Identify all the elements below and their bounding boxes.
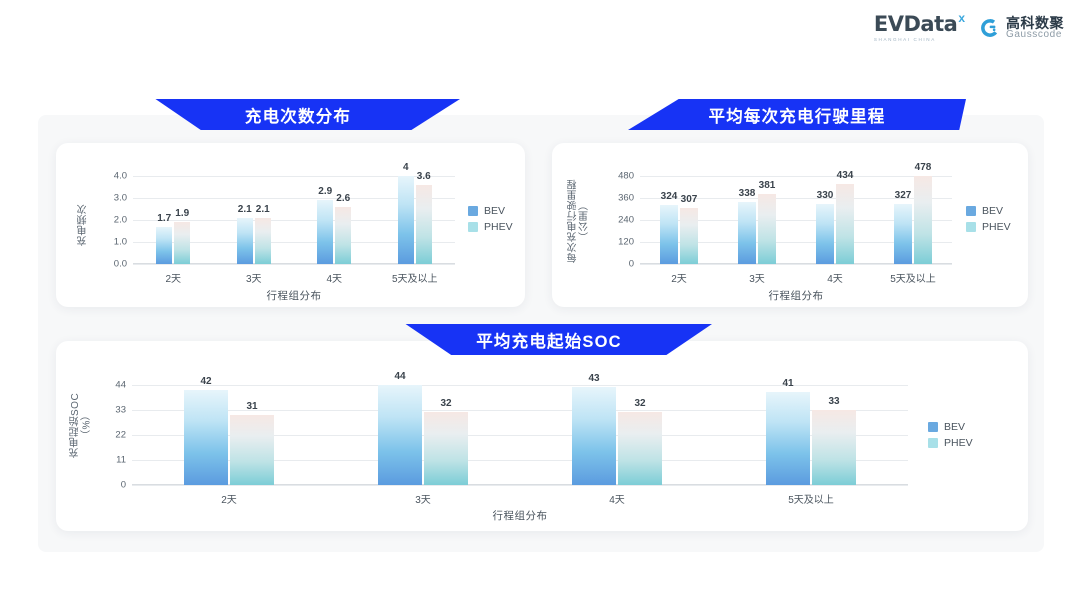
bars: 4432 xyxy=(378,385,468,485)
gausscode-logo-icon xyxy=(979,17,1001,39)
x-axis-tick: 2天 xyxy=(221,491,237,506)
legend-item-bev[interactable]: BEV xyxy=(966,205,1011,217)
y-axis-label: 充电频次 xyxy=(78,181,92,269)
bar-bev[interactable]: 327 xyxy=(894,204,912,264)
y-axis-tick: 1.0 xyxy=(114,237,127,248)
bars: 2.12.1 xyxy=(237,176,271,264)
bars: 338381 xyxy=(738,176,776,264)
y-axis-label: 每次充电行驶里程 （公里） xyxy=(568,165,596,277)
x-axis-tick: 3天 xyxy=(749,270,765,285)
legend-label-phev: PHEV xyxy=(484,221,513,233)
evdata-wordmark: EVData xyxy=(874,14,957,35)
legend-swatch-bev-icon xyxy=(468,206,478,216)
y-axis-tick: 0.0 xyxy=(114,259,127,270)
chart-charging-frequency: 充电频次 4.03.02.01.00.01.71.92天2.12.13天2.92… xyxy=(56,143,525,307)
bar-value-label: 327 xyxy=(895,190,912,201)
y-axis-tick: 33 xyxy=(115,405,126,416)
x-axis-tick: 4天 xyxy=(609,491,625,506)
y-axis-tick: 3.0 xyxy=(114,193,127,204)
evdata-x-icon: x xyxy=(958,12,965,24)
evdata-tagline: SHANGHAI CHINA xyxy=(874,38,936,43)
bar-bev[interactable]: 324 xyxy=(660,205,678,264)
y-axis-tick: 11 xyxy=(116,455,126,466)
legend-label-bev: BEV xyxy=(944,421,965,433)
bar-value-label: 2.1 xyxy=(256,204,270,215)
bar-value-label: 4 xyxy=(403,162,409,173)
legend-item-phev[interactable]: PHEV xyxy=(928,437,973,449)
bars: 1.71.9 xyxy=(156,176,190,264)
bar-groups: 42312天44323天43324天41335天及以上 xyxy=(132,385,908,485)
bar-group: 2.92.64天 xyxy=(294,176,375,264)
bar-bev[interactable]: 4 xyxy=(398,176,414,264)
evdata-logo: EVData x SHANGHAI CHINA xyxy=(874,14,965,43)
plot-area: 48036024012003243072天3383813天3304344天327… xyxy=(640,176,952,264)
bar-value-label: 478 xyxy=(915,162,932,173)
bars: 4231 xyxy=(184,385,274,485)
legend-label-phev: PHEV xyxy=(982,221,1011,233)
chart-avg-mileage-per-charge: 每次充电行驶里程 （公里） 48036024012003243072天33838… xyxy=(552,143,1028,307)
bars: 330434 xyxy=(816,176,854,264)
legend-swatch-phev-icon xyxy=(928,438,938,448)
x-axis-label: 行程组分布 xyxy=(640,288,952,303)
y-axis-tick: 2.0 xyxy=(114,215,127,226)
legend-swatch-phev-icon xyxy=(966,222,976,232)
y-axis-tick: 0 xyxy=(121,480,126,491)
bars: 327478 xyxy=(894,176,932,264)
legend-swatch-bev-icon xyxy=(966,206,976,216)
bar-group: 2.12.13天 xyxy=(214,176,295,264)
bar-value-label: 381 xyxy=(759,180,776,191)
chart-title-banner-avg-mileage: 平均每次充电行驶里程 xyxy=(628,99,966,130)
bar-bev[interactable]: 338 xyxy=(738,202,756,264)
legend-item-phev[interactable]: PHEV xyxy=(468,221,513,233)
x-axis-label: 行程组分布 xyxy=(133,288,455,303)
gausscode-name-cn: 高科数聚 xyxy=(1006,16,1064,31)
bar-bev[interactable]: 43 xyxy=(572,387,616,485)
bar-bev[interactable]: 330 xyxy=(816,204,834,265)
x-axis-tick: 4天 xyxy=(827,270,843,285)
bar-value-label: 324 xyxy=(661,191,678,202)
bar-phev[interactable]: 33 xyxy=(812,410,856,485)
bar-value-label: 44 xyxy=(394,371,405,382)
plot-area: 4.03.02.01.00.01.71.92天2.12.13天2.92.64天4… xyxy=(133,176,455,264)
gridline: 0 xyxy=(132,485,908,486)
chart-card-avg-mileage: 每次充电行驶里程 （公里） 48036024012003243072天33838… xyxy=(552,143,1028,307)
bar-value-label: 338 xyxy=(739,188,756,199)
bar-value-label: 330 xyxy=(817,190,834,201)
chart-card-charging-frequency: 充电频次 4.03.02.01.00.01.71.92天2.12.13天2.92… xyxy=(56,143,525,307)
legend-item-bev[interactable]: BEV xyxy=(928,421,973,433)
legend-swatch-bev-icon xyxy=(928,422,938,432)
y-axis-label: 充电起始SOC （%） xyxy=(70,377,98,473)
gausscode-name-en: Gausscode xyxy=(1006,30,1064,41)
bar-phev[interactable]: 381 xyxy=(758,194,776,264)
chart-avg-start-soc: 充电起始SOC （%） 44332211042312天44323天43324天4… xyxy=(56,341,1028,531)
bar-value-label: 43 xyxy=(588,373,599,384)
x-axis-label: 行程组分布 xyxy=(132,508,908,523)
bar-value-label: 31 xyxy=(246,401,257,412)
y-axis-tick: 4.0 xyxy=(114,171,127,182)
bar-group: 3243072天 xyxy=(640,176,718,264)
y-axis-tick: 0 xyxy=(629,259,634,270)
x-axis-tick: 3天 xyxy=(415,491,431,506)
bar-phev[interactable]: 32 xyxy=(424,412,468,485)
gridline: 0 xyxy=(640,264,952,265)
bars: 43.6 xyxy=(398,176,432,264)
bar-value-label: 41 xyxy=(782,378,793,389)
bar-phev[interactable]: 3.6 xyxy=(416,185,432,264)
bar-group: 1.71.92天 xyxy=(133,176,214,264)
bar-group: 43.65天及以上 xyxy=(375,176,456,264)
bar-phev[interactable]: 434 xyxy=(836,184,854,264)
gridline: 0.0 xyxy=(133,264,455,265)
bar-bev[interactable]: 2.9 xyxy=(317,200,333,264)
bar-value-label: 3.6 xyxy=(417,171,431,182)
legend-label-bev: BEV xyxy=(484,205,505,217)
gausscode-logo: 高科数聚 Gausscode xyxy=(979,16,1064,41)
bar-groups: 1.71.92天2.12.13天2.92.64天43.65天及以上 xyxy=(133,176,455,264)
bar-phev[interactable]: 1.9 xyxy=(174,222,190,264)
legend-item-phev[interactable]: PHEV xyxy=(966,221,1011,233)
x-axis-tick: 4天 xyxy=(326,270,342,285)
x-axis-tick: 5天及以上 xyxy=(890,270,936,285)
plot-area: 44332211042312天44323天43324天41335天及以上 xyxy=(132,385,908,485)
y-axis-tick: 360 xyxy=(618,193,634,204)
y-axis-tick: 240 xyxy=(618,215,634,226)
bar-value-label: 2.1 xyxy=(238,204,252,215)
y-axis-tick: 120 xyxy=(618,237,634,248)
chart-card-avg-start-soc: 充电起始SOC （%） 44332211042312天44323天43324天4… xyxy=(56,341,1028,531)
bar-bev[interactable]: 1.7 xyxy=(156,227,172,264)
bar-phev[interactable]: 307 xyxy=(680,208,698,264)
x-axis-tick: 2天 xyxy=(165,270,181,285)
bar-value-label: 2.9 xyxy=(318,186,332,197)
bar-phev[interactable]: 478 xyxy=(914,176,932,264)
bar-value-label: 32 xyxy=(634,398,645,409)
bar-value-label: 1.7 xyxy=(157,213,171,224)
bar-group: 41335天及以上 xyxy=(714,385,908,485)
bar-groups: 3243072天3383813天3304344天3274785天及以上 xyxy=(640,176,952,264)
bar-phev[interactable]: 31 xyxy=(230,415,274,485)
bar-value-label: 42 xyxy=(200,376,211,387)
x-axis-tick: 5天及以上 xyxy=(392,270,438,285)
bar-group: 43324天 xyxy=(520,385,714,485)
bar-group: 3274785天及以上 xyxy=(874,176,952,264)
x-axis-tick: 2天 xyxy=(671,270,687,285)
legend-item-bev[interactable]: BEV xyxy=(468,205,513,217)
bars: 4332 xyxy=(572,385,662,485)
bar-value-label: 434 xyxy=(837,170,854,181)
bar-phev[interactable]: 32 xyxy=(618,412,662,485)
bar-bev[interactable]: 44 xyxy=(378,385,422,485)
bar-group: 42312天 xyxy=(132,385,326,485)
bar-value-label: 2.6 xyxy=(336,193,350,204)
x-axis-tick: 3天 xyxy=(246,270,262,285)
bar-group: 3304344天 xyxy=(796,176,874,264)
chart-legend: BEV PHEV xyxy=(966,205,1011,233)
y-axis-tick: 22 xyxy=(115,430,126,441)
bars: 4133 xyxy=(766,385,856,485)
legend-label-phev: PHEV xyxy=(944,437,973,449)
bars: 2.92.6 xyxy=(317,176,351,264)
chart-legend: BEV PHEV xyxy=(468,205,513,233)
legend-label-bev: BEV xyxy=(982,205,1003,217)
x-axis-tick: 5天及以上 xyxy=(788,491,834,506)
bar-value-label: 33 xyxy=(828,396,839,407)
bar-value-label: 1.9 xyxy=(175,208,189,219)
bar-group: 44323天 xyxy=(326,385,520,485)
y-axis-tick: 480 xyxy=(618,171,634,182)
bar-phev[interactable]: 2.6 xyxy=(335,207,351,264)
bar-value-label: 307 xyxy=(681,194,698,205)
bar-bev[interactable]: 2.1 xyxy=(237,218,253,264)
y-axis-tick: 44 xyxy=(115,380,126,391)
chart-legend: BEV PHEV xyxy=(928,421,973,449)
bars: 324307 xyxy=(660,176,698,264)
bar-value-label: 32 xyxy=(440,398,451,409)
legend-swatch-phev-icon xyxy=(468,222,478,232)
bar-bev[interactable]: 41 xyxy=(766,392,810,485)
bar-phev[interactable]: 2.1 xyxy=(255,218,271,264)
brand-logo-bar: EVData x SHANGHAI CHINA 高科数聚 Gausscode xyxy=(874,14,1064,43)
bar-bev[interactable]: 42 xyxy=(184,390,228,485)
bar-group: 3383813天 xyxy=(718,176,796,264)
